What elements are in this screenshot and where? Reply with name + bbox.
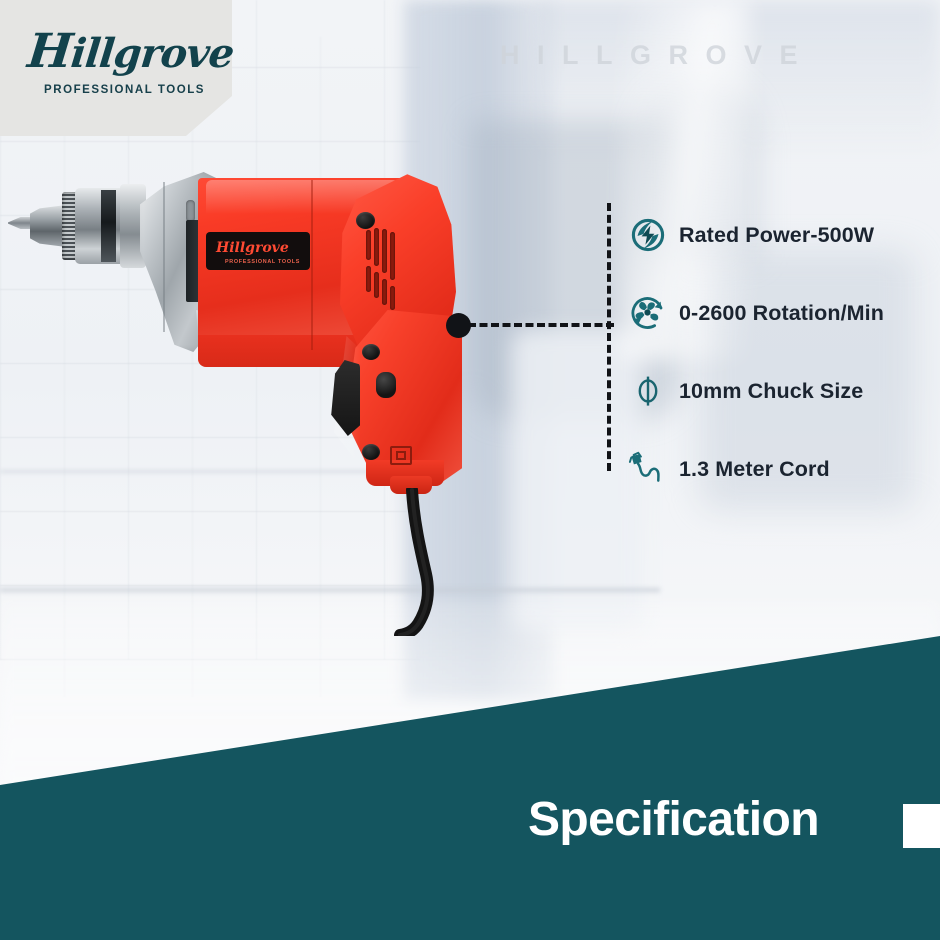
rotation-fan-icon [628,293,668,333]
screw-hole-top [356,212,375,229]
product-badge-script: Hillgrove [215,240,289,256]
callout-anchor-dot [446,313,471,338]
screw-hole-bottom [362,444,380,460]
banner-accent-block [903,804,940,848]
product-brand-badge: Hillgrove PROFESSIONAL TOOLS [206,232,310,270]
spec-item-rotation-speed: 0-2600 Rotation/Min [628,274,938,352]
power-bolt-icon [628,215,668,255]
power-cord [370,488,490,636]
double-insulation-icon [390,446,412,465]
drill-body-seam [311,180,313,350]
trigger-switch[interactable] [328,360,360,436]
callout-leader-vertical [607,203,611,471]
banner-title: Specification [528,792,819,847]
drill-body-lower [198,335,368,367]
brand-logo-rest: illgrove [69,30,236,77]
product-spec-banner: HILLGROVE Hillgrove PROFESSIONAL TOOLS H… [0,0,940,940]
lock-on-button[interactable] [376,372,396,398]
product-badge-tagline: PROFESSIONAL TOOLS [225,259,300,265]
gearbox-seam [163,182,165,332]
diameter-phi-icon [628,371,668,411]
spec-label: 10mm Chuck Size [679,379,863,404]
spec-label: Rated Power-500W [679,223,874,248]
spec-item-cord-length: 1.3 Meter Cord [628,430,938,508]
drill-air-vents [360,228,406,312]
brand-watermark: HILLGROVE [500,40,815,71]
spec-item-chuck-size: 10mm Chuck Size [628,352,938,430]
screw-hole-mid [362,344,380,360]
product-image-drill: Hillgrove PROFESSIONAL TOOLS [0,160,520,620]
spec-label: 1.3 Meter Cord [679,457,830,482]
brand-logo-initial: H [25,24,74,79]
callout-leader-horizontal [468,323,614,327]
power-cord-plug-icon [628,449,668,489]
background-machine-silhouette-b [512,330,642,630]
brand-logo-script: Hillgrove [25,24,236,79]
gearbox-slot [186,200,195,222]
brand-logo-tagline: PROFESSIONAL TOOLS [44,84,205,96]
spec-label: 0-2600 Rotation/Min [679,301,884,326]
specification-list: Rated Power-500W 0-2600 Rotation/Min [628,196,938,508]
chuck-black-ring [101,190,116,262]
spec-item-rated-power: Rated Power-500W [628,196,938,274]
chuck-body [75,188,125,264]
